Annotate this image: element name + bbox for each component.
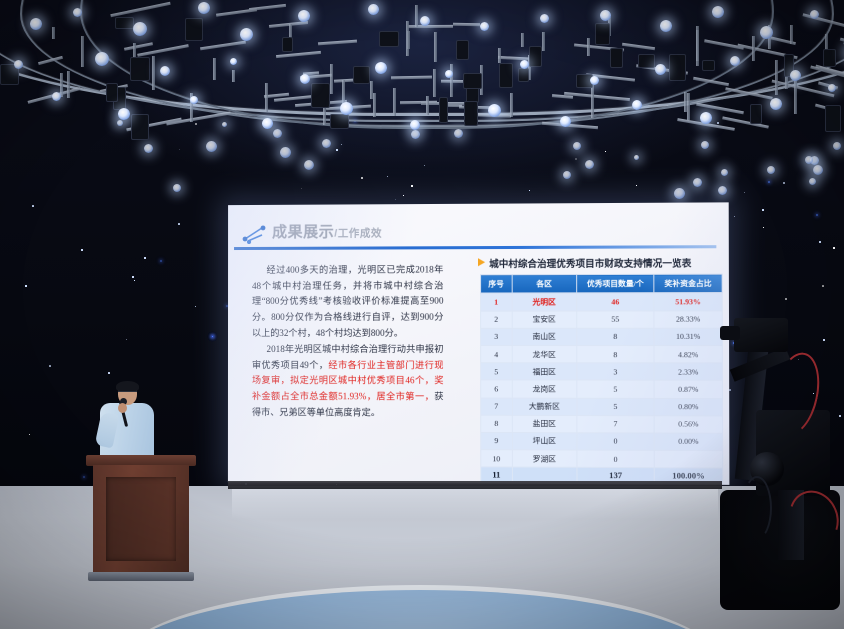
table-caption-text: 城中村综合治理优秀项目市财政支持情况一览表 bbox=[489, 260, 691, 271]
table-cell: 大鹏新区 bbox=[512, 398, 577, 416]
table-cell: 8 bbox=[577, 345, 654, 362]
table-cell bbox=[654, 450, 722, 468]
wooden-podium bbox=[86, 455, 196, 587]
table-cell: 龙岗区 bbox=[512, 380, 577, 398]
stage-spotlight bbox=[73, 8, 82, 17]
stage-spotlight bbox=[95, 52, 109, 66]
table-row: 1光明区4651.93% bbox=[481, 293, 723, 311]
glasses-icon bbox=[118, 391, 137, 396]
table-cell: 0.87% bbox=[654, 380, 722, 398]
node-link-icon bbox=[242, 224, 266, 244]
stage-spotlight bbox=[770, 98, 782, 110]
stage-spotlight bbox=[632, 100, 642, 110]
table-cell: 光明区 bbox=[512, 293, 577, 311]
table-cell: 4.82% bbox=[654, 345, 722, 363]
stage-spotlight bbox=[730, 56, 740, 66]
table-row: 9坪山区00.00% bbox=[481, 432, 723, 450]
table-cell: 4 bbox=[481, 345, 512, 362]
table-cell: 46 bbox=[577, 293, 654, 311]
column-header: 奖补资金占比 bbox=[654, 274, 722, 293]
stage-spotlight bbox=[790, 70, 801, 81]
stage-spotlight bbox=[700, 112, 712, 124]
table-cell: 0.00% bbox=[654, 433, 722, 451]
finance-support-table: 序号各区优秀项目数量/个奖补资金占比 1光明区4651.93%2宝安区5528.… bbox=[480, 274, 723, 485]
table-row: 4龙华区84.82% bbox=[481, 345, 723, 363]
table-cell: 55 bbox=[577, 311, 654, 329]
table-cell: 5 bbox=[577, 380, 654, 398]
table-cell: 2.33% bbox=[654, 363, 722, 381]
stage-spotlight bbox=[118, 108, 130, 120]
plain-text: 经过400多天的治理，光明区已完成2018年48个城中村治理任务，并将市城中村综… bbox=[252, 264, 443, 337]
table-cell: 10 bbox=[481, 450, 512, 468]
orange-triangle-icon bbox=[478, 258, 485, 266]
stage-spotlight bbox=[410, 120, 420, 130]
slide-header: 成果展示/工作成效 bbox=[240, 217, 716, 249]
broadcast-camera-crane bbox=[716, 300, 844, 560]
table-cell: 51.93% bbox=[654, 293, 722, 311]
table-row: 2宝安区5528.33% bbox=[481, 310, 723, 328]
column-header: 优秀项目数量/个 bbox=[577, 274, 654, 293]
column-header: 各区 bbox=[512, 275, 577, 294]
stage-spotlight bbox=[368, 4, 379, 15]
stage-spotlight bbox=[300, 74, 310, 84]
table-cell: 0.56% bbox=[654, 415, 722, 433]
stage-spotlight bbox=[198, 2, 210, 14]
presentation-slide: 成果展示/工作成效 经过400多天的治理，光明区已完成2018年48个城中村治理… bbox=[228, 202, 730, 485]
slide-body-text: 经过400多天的治理，光明区已完成2018年48个城中村治理任务，并将市城中村综… bbox=[252, 262, 444, 422]
stage-spotlight bbox=[375, 62, 387, 74]
table-cell: 3 bbox=[481, 328, 512, 345]
stage-spotlight bbox=[445, 70, 453, 78]
table-row: 6龙岗区50.87% bbox=[481, 380, 723, 398]
table-cell: 罗湖区 bbox=[512, 450, 577, 468]
table-cell: 3 bbox=[577, 363, 654, 381]
stage-spotlight bbox=[560, 116, 571, 127]
projection-screen: 成果展示/工作成效 经过400多天的治理，光明区已完成2018年48个城中村治理… bbox=[228, 202, 730, 485]
table-cell: 福田区 bbox=[512, 363, 577, 380]
table-cell: 0.80% bbox=[654, 398, 722, 416]
page-title-main: 成果展示 bbox=[272, 224, 334, 241]
table-cell: 9 bbox=[481, 432, 512, 450]
ceiling-truss-rig bbox=[0, 0, 844, 150]
table-cell: 龙华区 bbox=[512, 345, 577, 362]
stage-spotlight bbox=[828, 84, 836, 92]
stage-spotlight bbox=[30, 18, 42, 30]
table-cell: 坪山区 bbox=[512, 432, 577, 450]
table-cell: 8 bbox=[481, 415, 512, 432]
stage-spotlight bbox=[810, 10, 819, 19]
stage-spotlight bbox=[600, 10, 611, 21]
table-cell: 宝安区 bbox=[512, 311, 577, 328]
table-cell: 28.33% bbox=[654, 310, 722, 328]
stage-spotlight bbox=[520, 60, 529, 69]
crane-bracket bbox=[742, 476, 772, 540]
table-cell: 盐田区 bbox=[512, 415, 577, 433]
stage-spotlight bbox=[655, 64, 666, 75]
presenter-hand bbox=[118, 403, 127, 413]
table-cell: 8 bbox=[577, 328, 654, 345]
page-title: 成果展示/工作成效 bbox=[272, 220, 382, 242]
stage-spotlight bbox=[488, 104, 501, 117]
table-cell: 7 bbox=[481, 398, 512, 415]
stage-spotlight bbox=[160, 66, 170, 76]
table-cell: 10.31% bbox=[654, 328, 722, 346]
table-caption: 城中村综合治理优秀项目市财政支持情况一览表 bbox=[478, 255, 723, 270]
table-cell: 0 bbox=[577, 433, 654, 451]
table-cell: 2 bbox=[481, 311, 512, 328]
table-cell: 1 bbox=[481, 293, 512, 310]
table-row: 8盐田区70.56% bbox=[481, 415, 723, 433]
stage-spotlight bbox=[133, 22, 147, 36]
floor-reflection bbox=[232, 489, 718, 519]
stage-spotlight bbox=[590, 76, 599, 85]
table-cell: 7 bbox=[577, 415, 654, 433]
stage-spotlight bbox=[240, 28, 253, 41]
table-cell: 0 bbox=[577, 450, 655, 468]
stage-spotlight bbox=[760, 26, 773, 39]
stage-spotlight bbox=[420, 16, 430, 26]
table-cell: 5 bbox=[577, 398, 654, 416]
stage-spotlight bbox=[230, 58, 237, 65]
column-header: 序号 bbox=[481, 275, 512, 294]
page-title-sub: 工作成效 bbox=[338, 227, 382, 239]
stage-spotlight bbox=[298, 10, 310, 22]
stage-spotlight bbox=[52, 92, 61, 101]
stage-spotlight bbox=[14, 60, 23, 69]
table-cell: 6 bbox=[481, 380, 512, 397]
table-header-row: 序号各区优秀项目数量/个奖补资金占比 bbox=[481, 274, 723, 293]
stage-spotlight bbox=[262, 118, 273, 129]
stage-spotlight bbox=[340, 102, 353, 115]
stage-spotlight bbox=[660, 20, 672, 32]
table-cell: 南山区 bbox=[512, 328, 577, 345]
stage-spotlight bbox=[480, 22, 489, 31]
stage-spotlight bbox=[540, 14, 549, 23]
screen-base-shadow bbox=[228, 481, 722, 489]
table-cell: 5 bbox=[481, 363, 512, 380]
body-paragraph: 经过400多天的治理，光明区已完成2018年48个城中村治理任务，并将市城中村综… bbox=[252, 262, 444, 341]
table-row: 7大鹏新区50.80% bbox=[481, 398, 723, 416]
stage-photo: 成果展示/工作成效 经过400多天的治理，光明区已完成2018年48个城中村治理… bbox=[0, 0, 844, 629]
table-row: 10罗湖区0 bbox=[481, 450, 723, 469]
body-paragraph: 2018年光明区城中村综合治理行动共申报初审优秀项目49个，经市各行业主管部门进… bbox=[252, 342, 444, 421]
header-divider bbox=[234, 245, 716, 249]
stage-spotlight bbox=[712, 6, 724, 18]
table-row: 3南山区810.31% bbox=[481, 328, 723, 346]
table-row: 5福田区32.33% bbox=[481, 363, 723, 381]
stage-spotlight bbox=[190, 96, 198, 104]
